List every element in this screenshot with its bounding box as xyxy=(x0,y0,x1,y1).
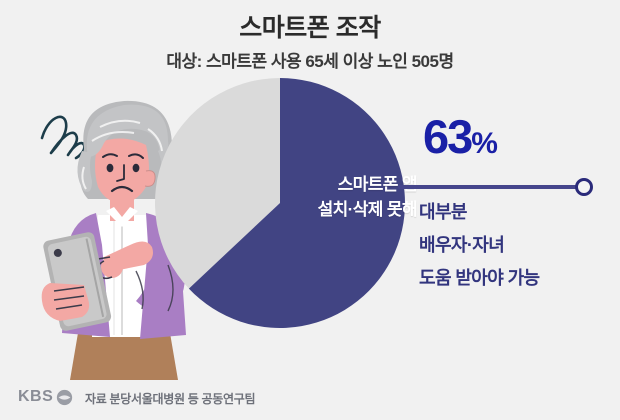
footer: KBS 자료 분당서울대병원 등 공동연구팀 xyxy=(0,382,620,420)
holding-hand xyxy=(42,283,89,321)
percent-number: 63 xyxy=(423,110,471,163)
percent-value: 63% xyxy=(423,113,497,160)
skirt xyxy=(70,333,178,380)
pie-slice-label: 스마트폰 앱 설치·삭제 못해 xyxy=(272,172,417,222)
face xyxy=(95,138,149,203)
kbs-emblem-icon xyxy=(56,389,73,406)
leader-endpoint-dot xyxy=(575,178,593,196)
right-eye xyxy=(133,164,140,172)
kbs-logo: KBS xyxy=(18,388,73,406)
pie-slice-label-line2: 설치·삭제 못해 xyxy=(272,197,417,222)
page-title: 스마트폰 조작 xyxy=(0,8,620,44)
source-credit: 자료 분당서울대병원 등 공동연구팀 xyxy=(85,390,255,407)
kbs-wordmark: KBS xyxy=(18,388,53,406)
callout-note-line1: 대부분 xyxy=(419,196,619,229)
confusion-scribble-icon xyxy=(42,117,84,158)
leader-line xyxy=(398,185,580,189)
infographic-root: 스마트폰 조작 대상: 스마트폰 사용 65세 이상 노인 505명 xyxy=(0,0,620,420)
left-eye xyxy=(107,164,114,172)
callout-note-line2: 배우자·자녀 xyxy=(419,229,619,262)
callout-note: 대부분 배우자·자녀 도움 받아야 가능 xyxy=(419,196,619,295)
pie-slice-label-line1: 스마트폰 앱 xyxy=(272,172,417,197)
page-subtitle: 대상: 스마트폰 사용 65세 이상 노인 505명 xyxy=(0,47,620,72)
percent-sign: % xyxy=(471,127,497,160)
callout-note-line3: 도움 받아야 가능 xyxy=(419,262,619,295)
